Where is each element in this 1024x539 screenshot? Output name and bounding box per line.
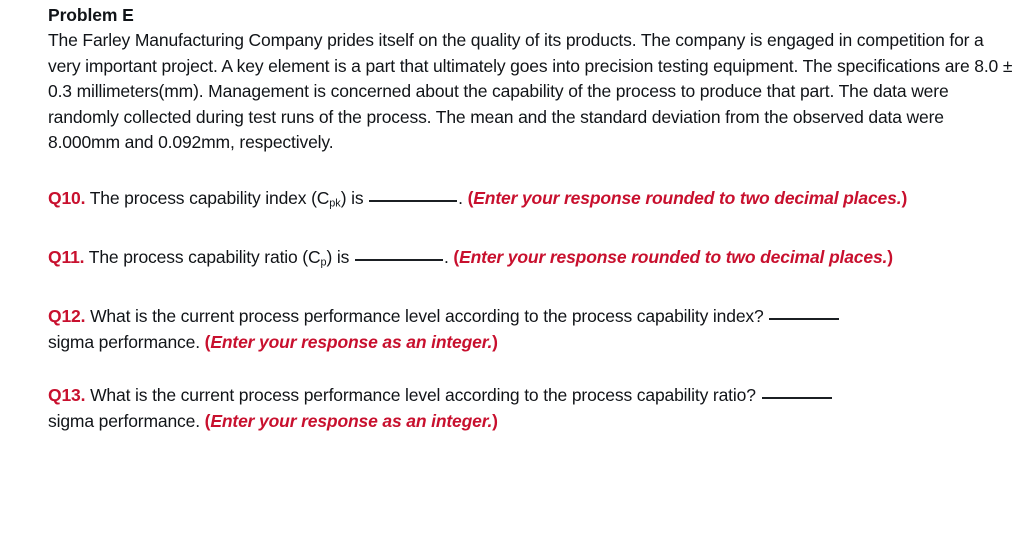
question-hint-q10: (Enter your response rounded to two deci… — [468, 188, 908, 208]
question-hint-q12: (Enter your response as an integer.) — [205, 332, 498, 352]
question-label-q11: Q11. — [48, 247, 84, 267]
hint-close-paren-q13: ) — [492, 411, 498, 431]
hint-text-q11: Enter your response rounded to two decim… — [459, 247, 887, 267]
hint-close-paren-q11: ) — [887, 247, 893, 267]
spacer — [48, 276, 1014, 304]
question-text-q13-after: sigma performance. — [48, 411, 200, 431]
question-q10: Q10. The process capability index (Cpk) … — [48, 186, 1020, 217]
question-text-q12-after: sigma performance. — [48, 332, 200, 352]
problem-statement-paragraph: The Farley Manufacturing Company prides … — [48, 28, 1013, 156]
document-page: Problem E The Farley Manufacturing Compa… — [0, 0, 1024, 539]
spacer — [48, 156, 1014, 186]
spacer — [48, 355, 1014, 383]
spacer — [48, 217, 1014, 245]
question-text-q11-after: ) is — [327, 247, 350, 267]
question-q13: Q13. What is the current process perform… — [48, 383, 1020, 434]
hint-close-paren-q12: ) — [492, 332, 498, 352]
answer-blank-q10[interactable] — [369, 200, 457, 202]
question-hint-q11: (Enter your response rounded to two deci… — [453, 247, 893, 267]
page-title: Problem E — [48, 3, 1014, 28]
question-q11-punctuation: . — [444, 247, 449, 267]
question-text-q11: The process capability ratio (C — [89, 247, 321, 267]
question-hint-q13: (Enter your response as an integer.) — [205, 411, 498, 431]
question-label-q13: Q13. — [48, 385, 85, 405]
question-text-q10: The process capability index (C — [90, 188, 330, 208]
question-text-q13: What is the current process performance … — [90, 385, 756, 405]
question-text-q10-after: ) is — [341, 188, 364, 208]
question-q11: Q11. The process capability ratio (Cp) i… — [48, 245, 1020, 276]
hint-text-q13: Enter your response as an integer. — [210, 411, 492, 431]
question-label-q10: Q10. — [48, 188, 85, 208]
hint-close-paren-q10: ) — [901, 188, 907, 208]
answer-blank-q13[interactable] — [762, 397, 832, 399]
question-q10-punctuation: . — [458, 188, 463, 208]
question-text-q12: What is the current process performance … — [90, 306, 764, 326]
subscript-pk: pk — [329, 197, 340, 209]
hint-text-q10: Enter your response rounded to two decim… — [473, 188, 901, 208]
answer-blank-q12[interactable] — [769, 318, 839, 320]
question-label-q12: Q12. — [48, 306, 85, 326]
answer-blank-q11[interactable] — [355, 259, 443, 261]
question-q12: Q12. What is the current process perform… — [48, 304, 1020, 355]
hint-text-q12: Enter your response as an integer. — [210, 332, 492, 352]
